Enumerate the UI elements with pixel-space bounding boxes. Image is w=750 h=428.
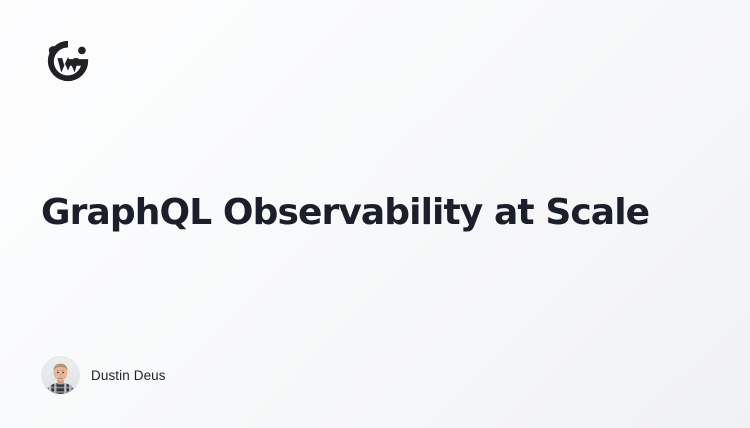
author-name: Dustin Deus [91,368,166,383]
slide-title: GraphQL Observability at Scale [41,192,649,234]
avatar-photo-icon [42,357,79,394]
avatar [42,357,79,394]
author-row: Dustin Deus [42,357,166,394]
brand-logo[interactable] [44,37,92,85]
slide-canvas: GraphQL Observability at Scale [0,0,750,428]
logo-g-w-icon [44,37,92,85]
